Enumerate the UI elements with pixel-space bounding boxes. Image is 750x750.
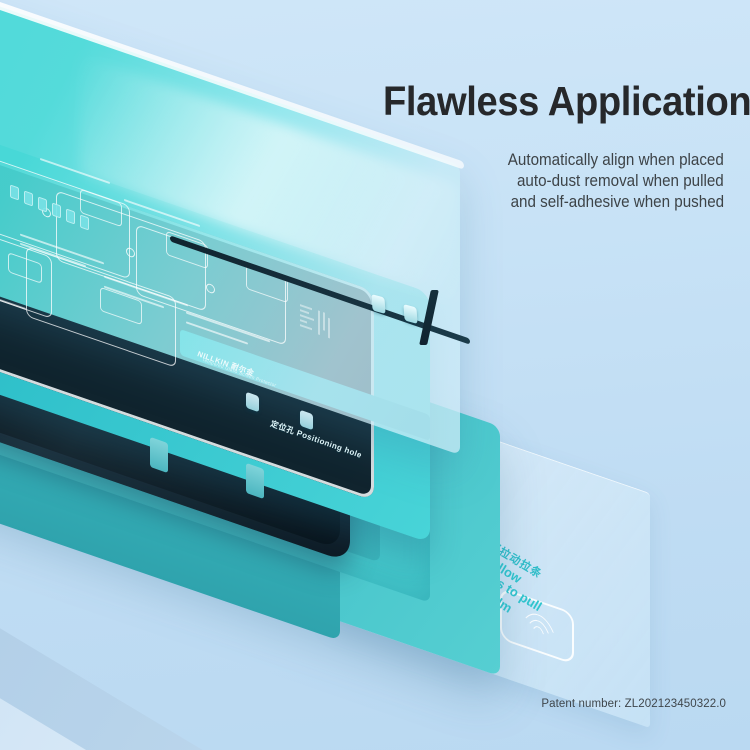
patent-number: Patent number: ZL202123450322.0 (541, 698, 726, 710)
film-pull-tab (38, 196, 47, 212)
film-pull-tab (80, 214, 89, 230)
positioning-jig-foot (150, 437, 168, 473)
film-pull-tab (66, 208, 75, 224)
subtitle-line-3: and self-adhesive when pushed (510, 192, 724, 213)
positioning-jig-foot (246, 463, 264, 499)
product-marketing-image: 请按说明步骤拉动拉条 Please follow instructions to… (0, 0, 750, 750)
film-pull-tab (10, 184, 19, 200)
page-title: Flawless Application (383, 78, 750, 125)
film-pull-tab (24, 190, 33, 206)
subtitle-line-2: auto-dust removal when pulled (517, 171, 724, 192)
subtitle-line-1: Automatically align when placed (508, 150, 724, 171)
film-pull-tab (52, 202, 61, 218)
